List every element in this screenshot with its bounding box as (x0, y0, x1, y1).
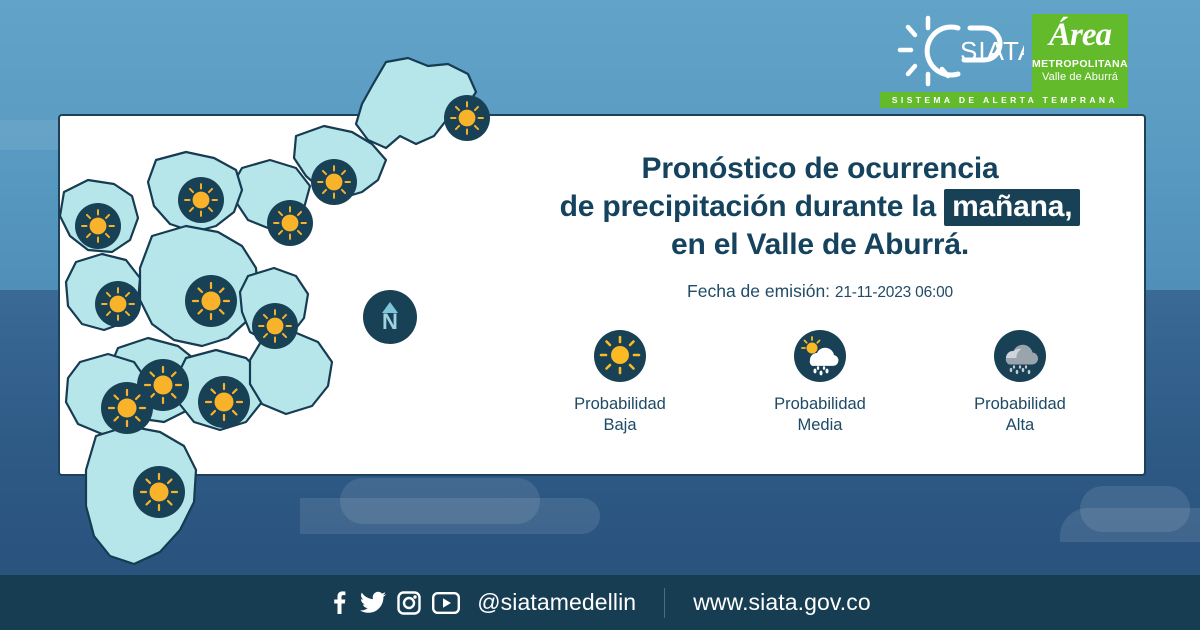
emission-date: Fecha de emisión: 21-11-2023 06:00 (520, 281, 1120, 302)
map-marker-envigado[interactable] (252, 303, 298, 349)
sun-icon (101, 382, 153, 434)
map-marker-itagui[interactable] (95, 281, 141, 327)
map-marker-bello[interactable] (178, 177, 224, 223)
website-url[interactable]: www.siata.gov.co (693, 589, 871, 616)
facebook-icon[interactable] (329, 591, 349, 615)
infographic-root: SIATA Área METROPOLITANA Valle de Aburrá… (0, 0, 1200, 630)
title-line-1: Pronóstico de ocurrencia (520, 150, 1120, 188)
valle-de-aburra-map: N (56, 40, 476, 580)
footer-bar: @siatamedellin www.siata.gov.co (0, 575, 1200, 630)
legend-item-alta: Probabilidad Alta (935, 330, 1105, 435)
sun-cloud-icon: SIATA (896, 14, 1024, 92)
legend-label-line1: Probabilidad (735, 394, 905, 415)
emission-label: Fecha de emisión: (687, 281, 830, 301)
area-line2: Valle de Aburrá (1042, 71, 1118, 83)
decorative-cloud (1060, 508, 1200, 542)
page-title: Pronóstico de ocurrencia de precipitació… (520, 150, 1120, 264)
twitter-icon[interactable] (360, 591, 386, 615)
map-marker-san-pedro[interactable] (75, 203, 121, 249)
cloud-rain-icon (994, 330, 1046, 382)
footer-divider (664, 588, 665, 618)
sun-icon (75, 203, 121, 249)
legend-item-media: Probabilidad Media (735, 330, 905, 435)
sun-icon (252, 303, 298, 349)
title-line-2: de precipitación durante la mañana, (520, 188, 1120, 226)
probability-legend: Probabilidad Baja (520, 330, 1120, 435)
sun-icon (178, 177, 224, 223)
sun-icon (311, 159, 357, 205)
map-marker-sabaneta[interactable] (198, 376, 250, 428)
area-line1: METROPOLITANA (1032, 58, 1128, 70)
title-highlight: mañana, (944, 189, 1080, 226)
legend-item-baja: Probabilidad Baja (535, 330, 705, 435)
map-marker-copacabana[interactable] (267, 200, 313, 246)
social-links (329, 591, 460, 615)
legend-label-media: Probabilidad Media (735, 394, 905, 435)
sun-cloud-rain-icon (794, 330, 846, 382)
compass-north-icon: N (363, 290, 417, 344)
compass-label: N (382, 311, 398, 333)
sun-icon (267, 200, 313, 246)
sun-icon (95, 281, 141, 327)
youtube-icon[interactable] (432, 592, 460, 614)
siata-logo: SIATA (896, 14, 1024, 92)
legend-label-line1: Probabilidad (935, 394, 1105, 415)
sun-icon (133, 466, 185, 518)
svg-text:SIATA: SIATA (960, 36, 1024, 66)
map-marker-caldas[interactable] (133, 466, 185, 518)
sun-icon (594, 330, 646, 382)
social-handle[interactable]: @siatamedellin (477, 589, 636, 616)
map-marker-caldas-norte[interactable] (101, 382, 153, 434)
map-marker-barbosa[interactable] (444, 95, 490, 141)
sun-icon (185, 275, 237, 327)
sun-icon (444, 95, 490, 141)
area-script-text: Área (1049, 19, 1111, 52)
legend-label-line1: Probabilidad (535, 394, 705, 415)
forecast-heading-block: Pronóstico de ocurrencia de precipitació… (520, 150, 1120, 302)
legend-label-alta: Probabilidad Alta (935, 394, 1105, 435)
title-line-3: en el Valle de Aburrá. (520, 226, 1120, 264)
tagline-banner: SISTEMA DE ALERTA TEMPRANA (880, 92, 1128, 108)
header-logos: SIATA Área METROPOLITANA Valle de Aburrá (896, 14, 1128, 92)
sun-icon (198, 376, 250, 428)
title-line-2-text: de precipitación durante la (560, 190, 936, 223)
map-marker-medellin[interactable] (185, 275, 237, 327)
legend-label-line2: Baja (535, 415, 705, 436)
map-marker-girardota[interactable] (311, 159, 357, 205)
legend-label-baja: Probabilidad Baja (535, 394, 705, 435)
legend-label-line2: Media (735, 415, 905, 436)
emission-value: 21-11-2023 06:00 (835, 284, 953, 301)
area-metropolitana-logo: Área METROPOLITANA Valle de Aburrá (1032, 14, 1128, 92)
legend-label-line2: Alta (935, 415, 1105, 436)
instagram-icon[interactable] (397, 591, 421, 615)
